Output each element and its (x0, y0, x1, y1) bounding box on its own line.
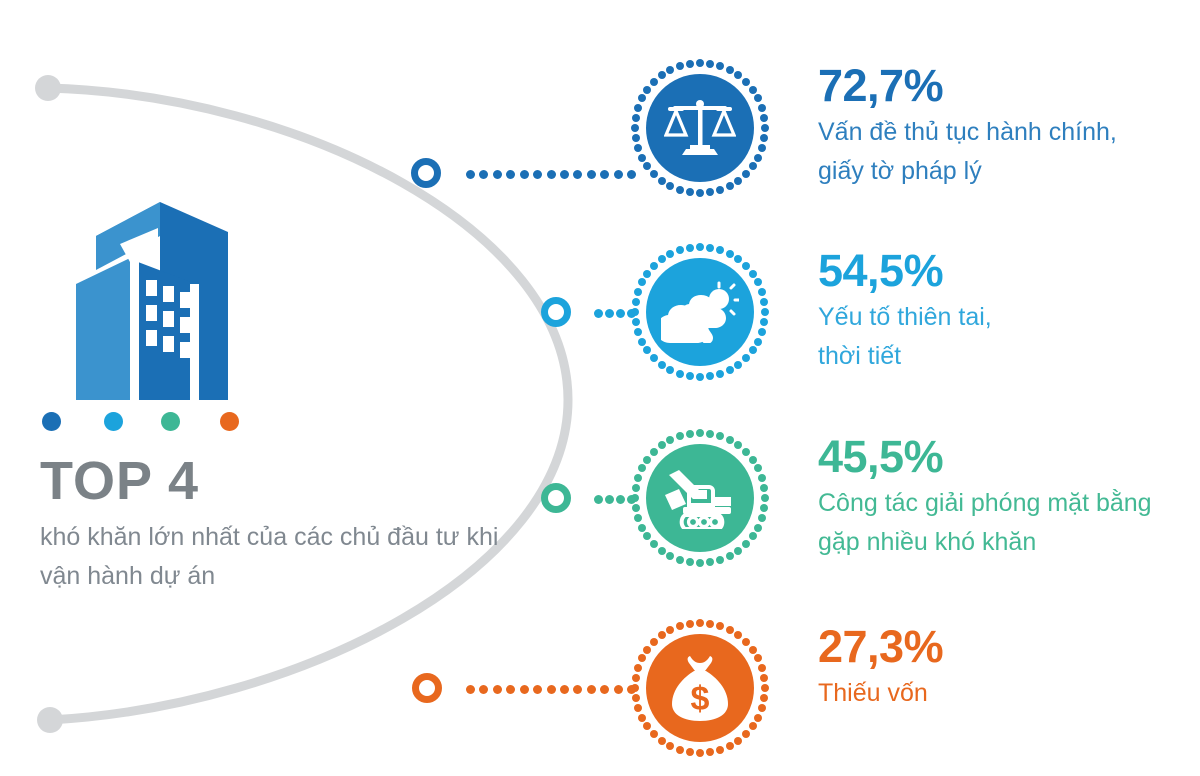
dot-connector-3 (594, 495, 636, 505)
percent-value-4: 27,3% (818, 622, 1198, 672)
node-ring-3[interactable] (541, 483, 571, 513)
description-line-3a: Công tác giải phóng mặt bằng (818, 484, 1200, 523)
infographic-canvas: TOP 4 khó khăn lớn nhất của các chủ đầu … (0, 0, 1200, 776)
excavator-icon (663, 467, 737, 529)
text-block-4: 27,3% Thiếu vốn (818, 622, 1198, 713)
percent-value-2: 54,5% (818, 246, 1198, 296)
icon-circle-1[interactable] (646, 74, 754, 182)
percent-value-3: 45,5% (818, 432, 1200, 482)
description-line-1b: giấy tờ pháp lý (818, 152, 1198, 191)
dot-connector-1 (466, 170, 636, 180)
description-line-2b: thời tiết (818, 337, 1198, 376)
list-item: 45,5% Công tác giải phóng mặt bằng gặp n… (0, 424, 1200, 574)
list-item: 72,7% Vấn đề thủ tục hành chính, giấy tờ… (0, 53, 1200, 203)
dot-connector-2 (594, 309, 636, 319)
list-item: 54,5% Yếu tố thiên tai, thời tiết (0, 238, 1200, 388)
icon-circle-4[interactable]: $ (646, 634, 754, 742)
percent-value-1: 72,7% (818, 61, 1198, 111)
node-ring-4[interactable] (412, 673, 442, 703)
description-line-3b: gặp nhiều khó khăn (818, 523, 1200, 562)
svg-text:$: $ (691, 680, 710, 718)
storm-cloud-icon (661, 281, 739, 343)
list-item: $ 27,3% Thiếu vốn (0, 614, 1200, 764)
text-block-3: 45,5% Công tác giải phóng mặt bằng gặp n… (818, 432, 1200, 562)
scales-of-justice-icon (664, 95, 736, 161)
node-ring-2[interactable] (541, 297, 571, 327)
description-line-4a: Thiếu vốn (818, 674, 1198, 713)
text-block-2: 54,5% Yếu tố thiên tai, thời tiết (818, 246, 1198, 376)
icon-circle-3[interactable] (646, 444, 754, 552)
description-line-2a: Yếu tố thiên tai, (818, 298, 1198, 337)
text-block-1: 72,7% Vấn đề thủ tục hành chính, giấy tờ… (818, 61, 1198, 191)
money-bag-icon: $ (668, 654, 732, 722)
node-ring-1[interactable] (411, 158, 441, 188)
description-line-1a: Vấn đề thủ tục hành chính, (818, 113, 1198, 152)
dot-connector-4 (466, 685, 636, 695)
icon-circle-2[interactable] (646, 258, 754, 366)
